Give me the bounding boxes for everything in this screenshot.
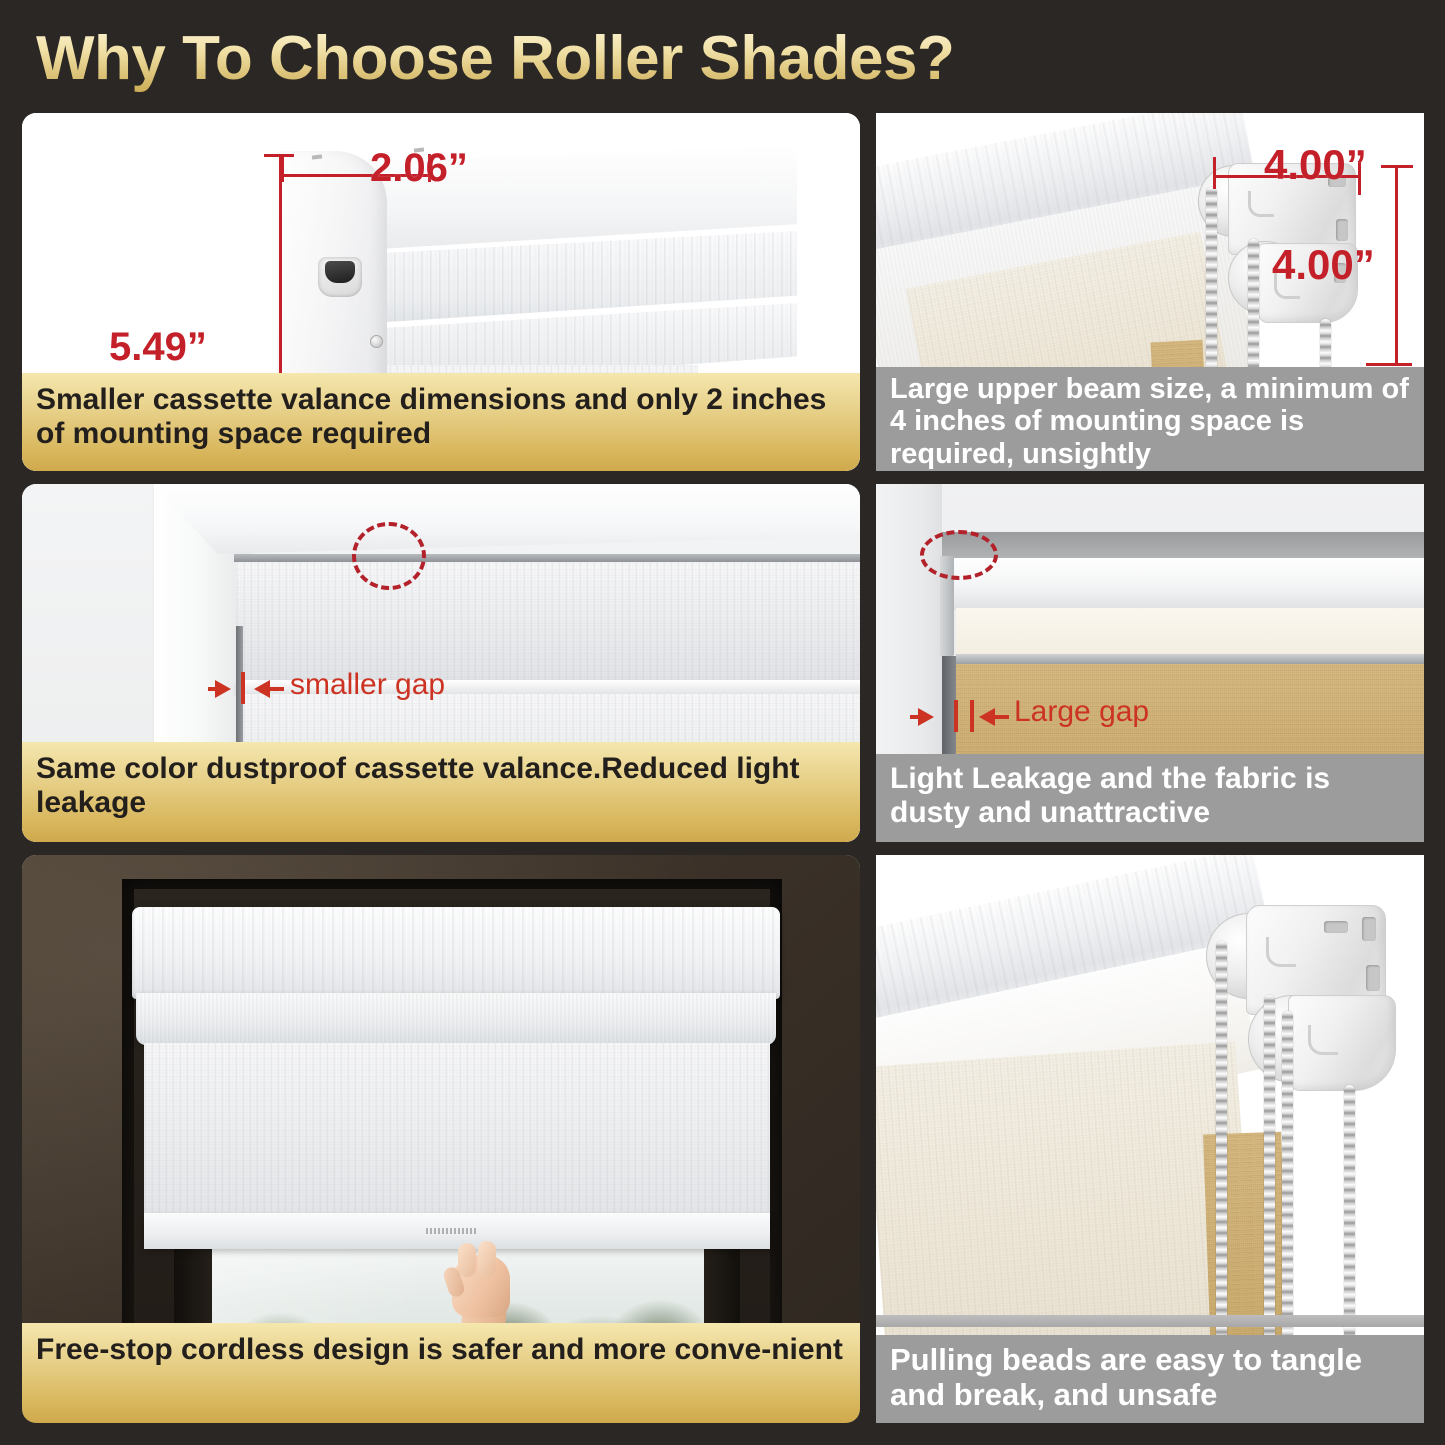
gap-label-smaller: smaller gap <box>290 668 445 702</box>
photo-bottom-shadow <box>876 1315 1424 1327</box>
panel-cassette-dimensions: 2.06” 5.49” Smaller cassette valance dim… <box>22 113 860 471</box>
caption-panel-5: Free-stop cordless design is safer and m… <box>22 1323 860 1423</box>
gap-arrow-right-stem <box>910 715 922 719</box>
dimension-label-width: 4.00” <box>1264 141 1367 189</box>
dimension-tick-height-top <box>264 154 294 157</box>
gap-arrow-left-stem <box>995 715 1009 719</box>
dimension-tick-height-top <box>1381 165 1413 168</box>
dimension-label-height: 4.00” <box>1272 241 1375 289</box>
gap-arrow-right-stem-a <box>208 687 220 691</box>
chain-slot-hole <box>325 261 355 283</box>
gap-bar-marker <box>241 672 245 704</box>
bracket-mechanism-icon-upper <box>1266 937 1296 967</box>
bracket-mechanism-icon-upper <box>1248 191 1274 217</box>
dimension-label-width: 2.06” <box>370 146 468 191</box>
gap-arrow-pointing-left <box>979 708 995 726</box>
infographic-root: Why To Choose Roller Shades? <box>0 0 1445 1445</box>
panel-dustproof-cassette: smaller gap Same color dustproof cassett… <box>22 484 860 842</box>
caption-panel-4: Light Leakage and the fabric is dusty an… <box>876 754 1424 842</box>
panel-pulling-beads: Pulling beads are easy to tangle and bre… <box>876 855 1424 1423</box>
shade-headrail <box>132 907 780 999</box>
page-title: Why To Choose Roller Shades? <box>36 22 1036 96</box>
dimension-tick-height-bottom <box>1366 363 1412 366</box>
screw-icon <box>370 335 383 348</box>
cassette-valance-face <box>236 562 860 684</box>
caption-panel-2: Large upper beam size, a minimum of 4 in… <box>876 367 1424 471</box>
hand-finger-middle <box>478 1241 496 1277</box>
panel-light-leakage: Large gap Light Leakage and the fabric i… <box>876 484 1424 842</box>
hand-finger-index <box>458 1243 476 1277</box>
bracket-slot-2 <box>1362 917 1376 941</box>
caption-panel-5-text: Free-stop cordless design is safer and m… <box>36 1333 843 1366</box>
window-trim-top <box>154 484 860 554</box>
gap-arrow-pointing-left <box>254 680 270 698</box>
panel-large-upper-beam: 4.00” 4.00” Large upper beam size, a min… <box>876 113 1424 471</box>
bracket-mechanism-icon-lower <box>1308 1025 1338 1055</box>
caption-panel-2-text: Large upper beam size, a minimum of 4 in… <box>890 373 1409 470</box>
caption-panel-4-text: Light Leakage and the fabric is dusty an… <box>890 762 1330 829</box>
highlight-ellipse-gap <box>920 530 998 580</box>
caption-panel-1-text: Smaller cassette valance dimensions and … <box>36 383 826 450</box>
highlight-circle-gap <box>352 522 426 590</box>
metal-rail <box>956 654 1424 664</box>
dimension-label-height: 5.49” <box>109 325 207 370</box>
gap-bar-marker-right <box>970 700 974 732</box>
caption-panel-1: Smaller cassette valance dimensions and … <box>22 373 860 471</box>
bracket-slot-2 <box>1336 219 1348 241</box>
caption-panel-3: Same color dustproof cassette valance.Re… <box>22 742 860 842</box>
shade-brand-mark <box>426 1228 478 1234</box>
gap-arrow-left-stem-b <box>270 687 284 691</box>
cassette-rail-top <box>234 554 860 562</box>
panel-cordless-design: Free-stop cordless design is safer and m… <box>22 855 860 1423</box>
caption-panel-6: Pulling beads are easy to tangle and bre… <box>876 1335 1424 1423</box>
caption-panel-6-text: Pulling beads are easy to tangle and bre… <box>890 1342 1362 1412</box>
bracket-slot-3 <box>1366 965 1380 991</box>
gap-bar-marker-left <box>954 700 958 732</box>
valance-cream-strip <box>956 608 1424 656</box>
dimension-line-height <box>1395 165 1398 365</box>
shade-headrail-lip <box>136 993 776 1045</box>
bracket-plate-lower <box>1288 995 1396 1091</box>
caption-panel-3-text: Same color dustproof cassette valance.Re… <box>36 752 800 819</box>
gap-label-large: Large gap <box>1014 695 1149 729</box>
bracket-slot-1 <box>1324 921 1348 933</box>
valance-white <box>952 558 1424 610</box>
dimension-tick-width-left <box>1213 157 1216 189</box>
